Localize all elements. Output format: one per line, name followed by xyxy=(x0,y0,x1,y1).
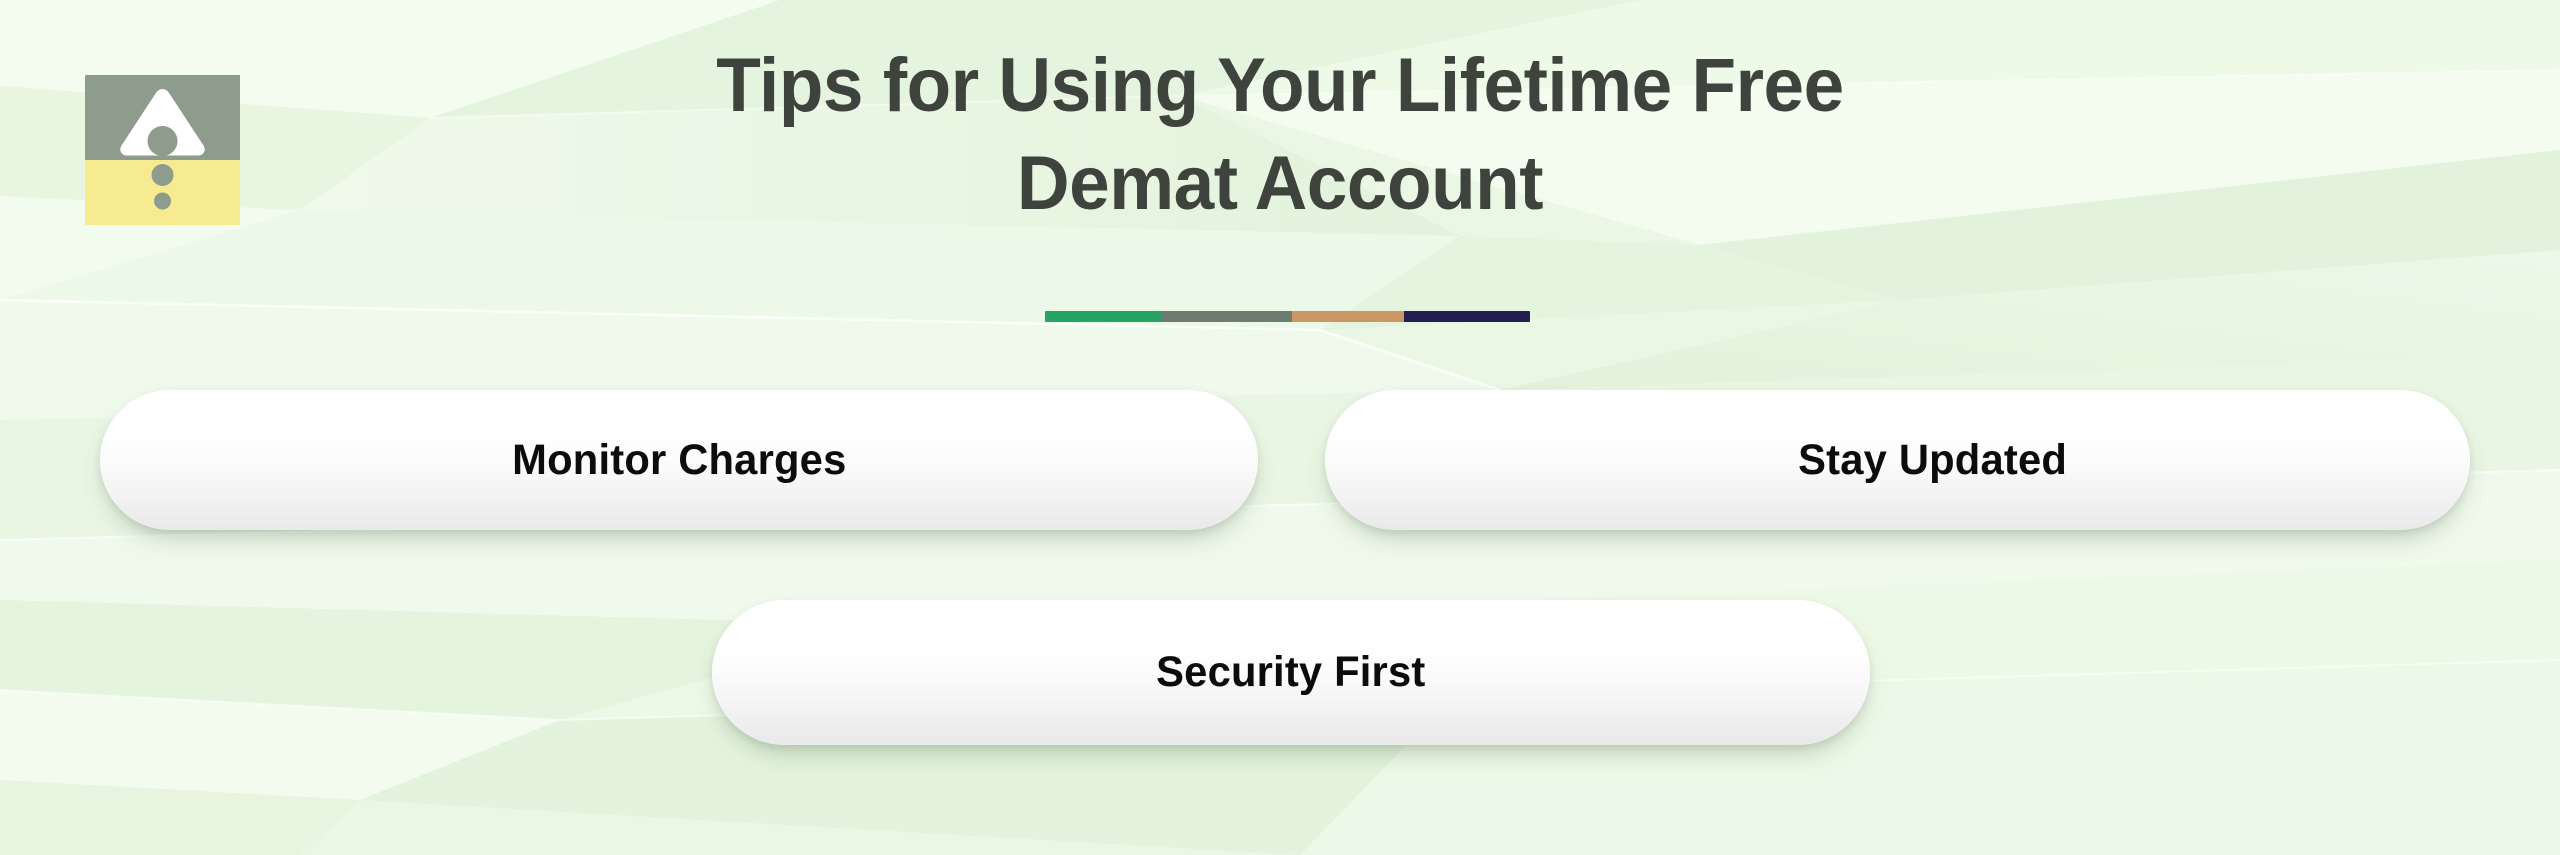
tip-pill-stay-updated[interactable]: Stay Updated xyxy=(1325,390,2470,530)
accent-segment-navy xyxy=(1404,311,1530,322)
tip-pill-label: Security First xyxy=(1156,648,1425,697)
tip-pill-monitor-charges[interactable]: Monitor Charges xyxy=(100,390,1258,530)
accent-segment-gray xyxy=(1161,311,1292,322)
accent-segment-tan xyxy=(1292,311,1404,322)
tip-pill-label: Monitor Charges xyxy=(512,436,846,485)
page-title: Tips for Using Your Lifetime Free Demat … xyxy=(0,48,2560,222)
tip-pill-label: Stay Updated xyxy=(1798,436,2067,485)
tip-pill-security-first[interactable]: Security First xyxy=(712,600,1870,745)
page-title-line-2: Demat Account xyxy=(51,146,2509,222)
page-title-line-1: Tips for Using Your Lifetime Free xyxy=(51,48,2509,124)
slide-canvas: Tips for Using Your Lifetime Free Demat … xyxy=(0,0,2560,855)
title-accent-bar xyxy=(1045,311,1530,322)
accent-segment-green xyxy=(1045,311,1161,322)
